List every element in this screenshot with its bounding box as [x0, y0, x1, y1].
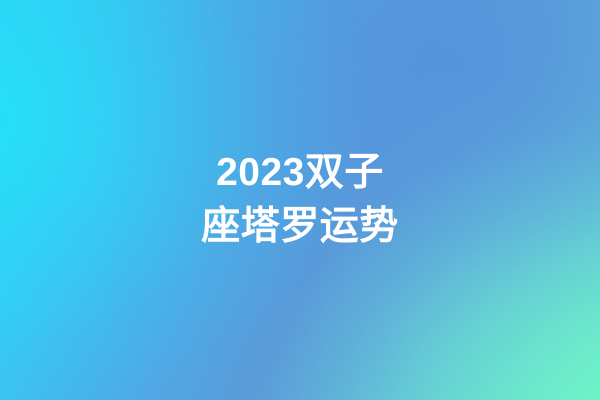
headline-line-2: 座塔罗运势	[201, 200, 399, 254]
zodiac-tarot-banner: 2023双子 座塔罗运势	[0, 0, 600, 400]
banner-headline: 2023双子 座塔罗运势	[0, 0, 600, 400]
headline-line-1: 2023双子	[216, 146, 384, 200]
